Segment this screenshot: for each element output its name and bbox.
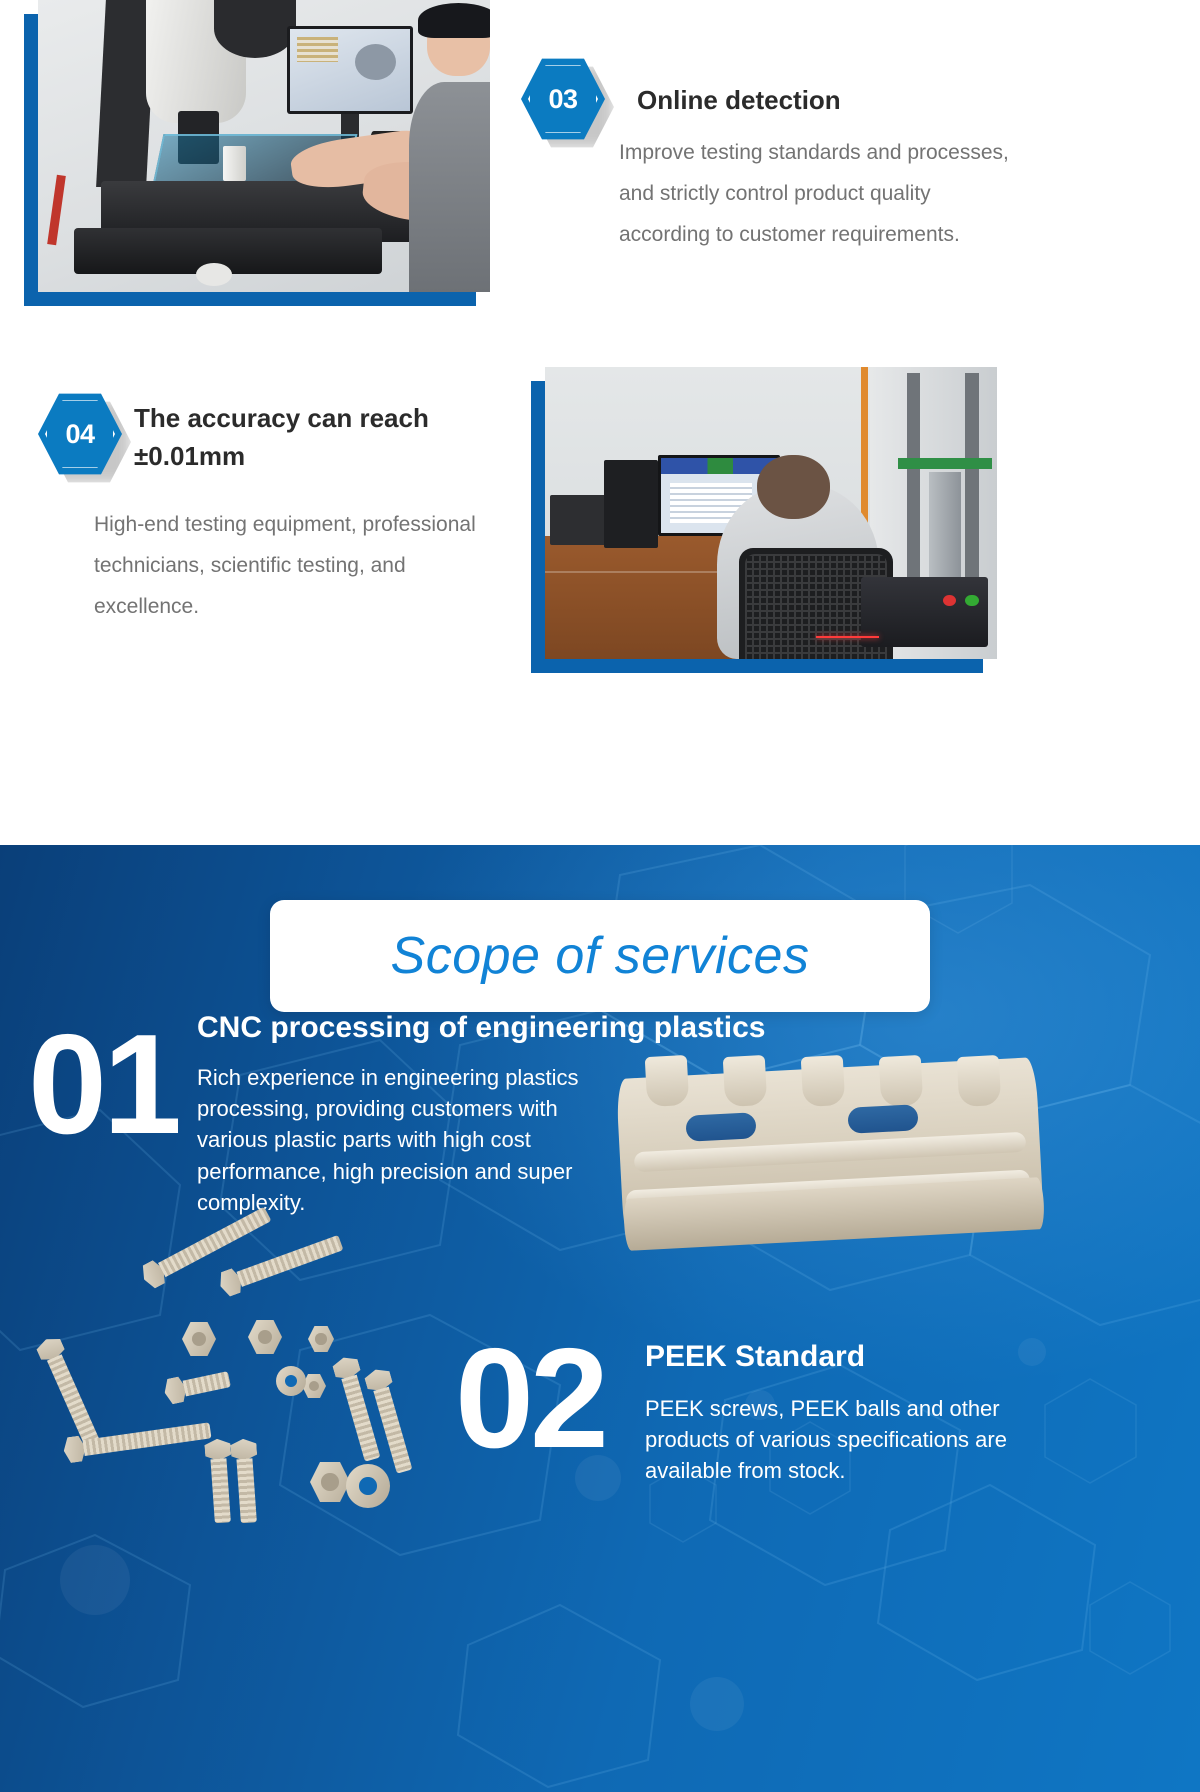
image-peek-screws-nuts [40,1262,470,1522]
badge-number-04: 04 [65,421,94,448]
feature-title-04: The accuracy can reach ±0.01mm [134,400,494,475]
feature-body-04: High-end testing equipment, professional… [94,505,514,628]
photo-online-detection [24,14,476,306]
decor-dot [60,1545,130,1615]
photo-accuracy [531,381,983,673]
photo-image-metrology [38,0,490,292]
badge-03: 03 [521,57,605,141]
section-title-card: Scope of services [270,900,930,1012]
service-title-02: PEEK Standard [645,1340,1065,1374]
service-title-01: CNC processing of engineering plastics [197,1011,937,1045]
feature-body-03: Improve testing standards and processes,… [619,133,1009,256]
badge-04: 04 [38,392,122,476]
service-body-01: Rich experience in engineering plastics … [197,1062,615,1218]
service-number-02: 02 [455,1334,605,1465]
feature-title-03: Online detection [637,82,1057,120]
image-machined-peek-part [620,1038,1040,1268]
scope-of-services-section: Scope of services 01 CNC processing of e… [0,845,1200,1792]
decor-dot [690,1677,744,1731]
service-body-02: PEEK screws, PEEK balls and other produc… [645,1393,1040,1487]
service-number-01: 01 [28,1020,178,1151]
features-section: 03 Online detection Improve testing stan… [0,0,1200,845]
badge-number-03: 03 [548,86,577,113]
photo-image-tensile-lab [545,367,997,659]
section-title: Scope of services [391,926,810,986]
